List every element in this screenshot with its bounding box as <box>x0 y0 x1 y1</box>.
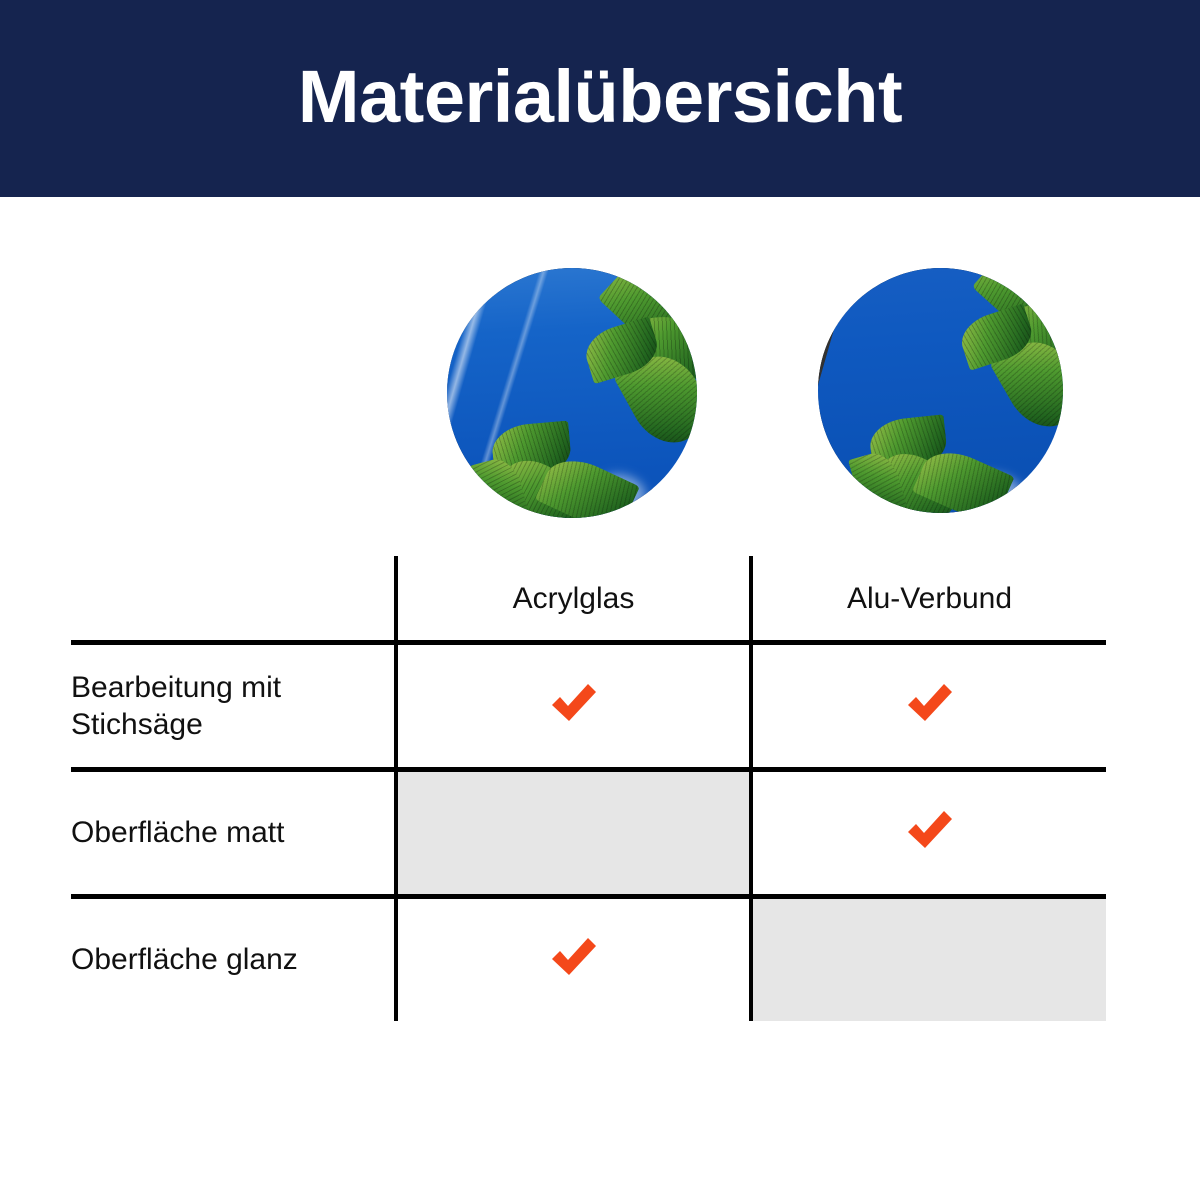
alu-verbund-sample-graphic <box>818 268 1063 513</box>
cell-matt-acrylglas <box>396 770 751 897</box>
row-label-bearbeitung-stichsaege: Bearbeitung mit Stichsäge <box>71 643 396 770</box>
check-icon <box>547 931 601 985</box>
cell-bearbeitung-alu-verbund <box>751 643 1106 770</box>
cell-glanz-alu-verbund <box>751 897 1106 1022</box>
alu-verbund-sample-image <box>818 268 1063 513</box>
column-header-acrylglas: Acrylglas <box>396 556 751 643</box>
table-row: Oberfläche glanz <box>71 897 1106 1022</box>
table-row: Bearbeitung mit Stichsäge <box>71 643 1106 770</box>
cell-glanz-acrylglas <box>396 897 751 1022</box>
table-row: Oberfläche matt <box>71 770 1106 897</box>
row-label-oberflaeche-matt: Oberfläche matt <box>71 770 396 897</box>
acrylglas-sample-image <box>447 268 697 518</box>
acrylglas-print-face <box>447 268 697 518</box>
cell-bearbeitung-acrylglas <box>396 643 751 770</box>
header-banner: Materialübersicht <box>0 0 1200 197</box>
material-samples <box>0 268 1200 526</box>
page-title: Materialübersicht <box>298 60 902 134</box>
alu-verbund-print-face <box>818 268 1063 513</box>
material-comparison-table: Acrylglas Alu-Verbund Bearbeitung mit St… <box>71 556 1106 1014</box>
check-icon <box>547 677 601 731</box>
row-label-oberflaeche-glanz: Oberfläche glanz <box>71 897 396 1022</box>
table-header-row: Acrylglas Alu-Verbund <box>71 556 1106 643</box>
check-icon <box>903 804 957 858</box>
check-icon <box>903 677 957 731</box>
material-overview-page: Materialübersicht <box>0 0 1200 1200</box>
acrylglas-sample-graphic <box>447 268 697 518</box>
cell-matt-alu-verbund <box>751 770 1106 897</box>
table-corner-cell <box>71 556 396 643</box>
column-header-alu-verbund: Alu-Verbund <box>751 556 1106 643</box>
